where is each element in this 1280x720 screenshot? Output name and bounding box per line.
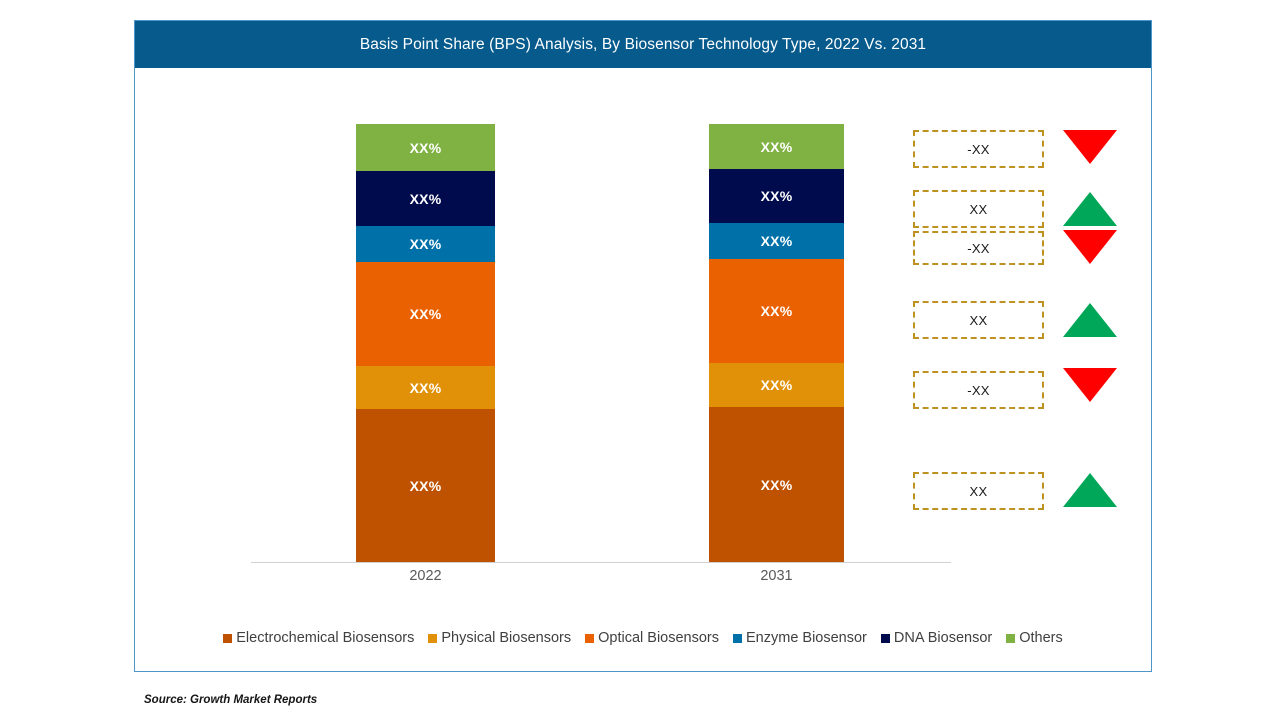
source-note: Source: Growth Market Reports bbox=[144, 694, 317, 706]
bar-segment-value-label: XX% bbox=[761, 233, 793, 249]
bar-segment-value-label: XX% bbox=[761, 139, 793, 155]
bar-segment-value-label: XX% bbox=[761, 188, 793, 204]
bar-segment-2022-optical-biosensors[interactable]: XX% bbox=[356, 262, 495, 366]
bar-segment-value-label: XX% bbox=[410, 478, 442, 494]
bps-change-box-others[interactable]: -XX bbox=[913, 130, 1044, 168]
bar-segment-2022-electrochemical-biosensors[interactable]: XX% bbox=[356, 409, 495, 562]
legend-label: Electrochemical Biosensors bbox=[236, 630, 414, 646]
arrow-up-icon-optical-biosensors bbox=[1063, 303, 1117, 337]
axis-baseline bbox=[251, 562, 951, 563]
bps-change-value: XX bbox=[970, 202, 988, 217]
stacked-bar-2022[interactable]: XX%XX%XX%XX%XX%XX% bbox=[356, 124, 495, 562]
bar-segment-2022-enzyme-biosensor[interactable]: XX% bbox=[356, 226, 495, 262]
axis-label-2022: 2022 bbox=[356, 568, 495, 584]
legend-label: Optical Biosensors bbox=[598, 630, 719, 646]
chart-title: Basis Point Share (BPS) Analysis, By Bio… bbox=[360, 36, 926, 54]
bar-segment-2031-enzyme-biosensor[interactable]: XX% bbox=[709, 223, 844, 259]
legend-item-optical-biosensors[interactable]: Optical Biosensors bbox=[585, 630, 719, 646]
bar-segment-value-label: XX% bbox=[410, 140, 442, 156]
legend-label: Others bbox=[1019, 630, 1063, 646]
arrow-up-icon-electrochemical-biosensors bbox=[1063, 473, 1117, 507]
chart-card: Basis Point Share (BPS) Analysis, By Bio… bbox=[134, 20, 1152, 672]
bps-change-value: -XX bbox=[967, 383, 990, 398]
bar-segment-2031-dna-biosensor[interactable]: XX% bbox=[709, 169, 844, 223]
plot-area: XX%XX%XX%XX%XX%XX% XX%XX%XX%XX%XX%XX% 20… bbox=[135, 68, 1151, 672]
bar-segment-value-label: XX% bbox=[761, 377, 793, 393]
legend-label: Physical Biosensors bbox=[441, 630, 571, 646]
legend-item-dna-biosensor[interactable]: DNA Biosensor bbox=[881, 630, 992, 646]
bar-segment-value-label: XX% bbox=[410, 191, 442, 207]
bar-segment-value-label: XX% bbox=[761, 303, 793, 319]
bar-segment-value-label: XX% bbox=[410, 236, 442, 252]
bar-segment-2022-others[interactable]: XX% bbox=[356, 124, 495, 171]
legend-swatch-icon bbox=[733, 634, 742, 643]
bar-segment-value-label: XX% bbox=[761, 477, 793, 493]
bps-change-value: -XX bbox=[967, 142, 990, 157]
legend-label: Enzyme Biosensor bbox=[746, 630, 867, 646]
bar-segment-2022-dna-biosensor[interactable]: XX% bbox=[356, 171, 495, 226]
bar-segment-2031-electrochemical-biosensors[interactable]: XX% bbox=[709, 407, 844, 562]
bps-change-box-optical-biosensors[interactable]: XX bbox=[913, 301, 1044, 339]
legend-item-electrochemical-biosensors[interactable]: Electrochemical Biosensors bbox=[223, 630, 414, 646]
bps-change-box-electrochemical-biosensors[interactable]: XX bbox=[913, 472, 1044, 510]
axis-label-2031: 2031 bbox=[709, 568, 844, 584]
legend-swatch-icon bbox=[585, 634, 594, 643]
arrow-up-icon-dna-biosensor bbox=[1063, 192, 1117, 226]
legend-swatch-icon bbox=[1006, 634, 1015, 643]
legend-swatch-icon bbox=[881, 634, 890, 643]
legend-swatch-icon bbox=[428, 634, 437, 643]
arrow-down-icon-others bbox=[1063, 130, 1117, 164]
legend-item-others[interactable]: Others bbox=[1006, 630, 1063, 646]
bar-segment-2031-others[interactable]: XX% bbox=[709, 124, 844, 169]
chart-title-bar: Basis Point Share (BPS) Analysis, By Bio… bbox=[135, 21, 1151, 68]
bps-change-box-physical-biosensors[interactable]: -XX bbox=[913, 371, 1044, 409]
legend-item-physical-biosensors[interactable]: Physical Biosensors bbox=[428, 630, 571, 646]
bps-change-box-dna-biosensor[interactable]: XX bbox=[913, 190, 1044, 228]
bar-segment-2031-optical-biosensors[interactable]: XX% bbox=[709, 259, 844, 363]
chart-legend: Electrochemical BiosensorsPhysical Biose… bbox=[135, 630, 1151, 646]
legend-label: DNA Biosensor bbox=[894, 630, 992, 646]
bps-change-value: -XX bbox=[967, 241, 990, 256]
bar-segment-2031-physical-biosensors[interactable]: XX% bbox=[709, 363, 844, 407]
arrow-down-icon-physical-biosensors bbox=[1063, 368, 1117, 402]
bps-change-value: XX bbox=[970, 484, 988, 499]
bar-segment-value-label: XX% bbox=[410, 306, 442, 322]
bps-change-value: XX bbox=[970, 313, 988, 328]
bps-change-box-enzyme-biosensor[interactable]: -XX bbox=[913, 231, 1044, 265]
stacked-bar-2031[interactable]: XX%XX%XX%XX%XX%XX% bbox=[709, 124, 844, 562]
arrow-down-icon-enzyme-biosensor bbox=[1063, 230, 1117, 264]
bar-segment-value-label: XX% bbox=[410, 380, 442, 396]
bar-segment-2022-physical-biosensors[interactable]: XX% bbox=[356, 366, 495, 409]
legend-item-enzyme-biosensor[interactable]: Enzyme Biosensor bbox=[733, 630, 867, 646]
legend-swatch-icon bbox=[223, 634, 232, 643]
